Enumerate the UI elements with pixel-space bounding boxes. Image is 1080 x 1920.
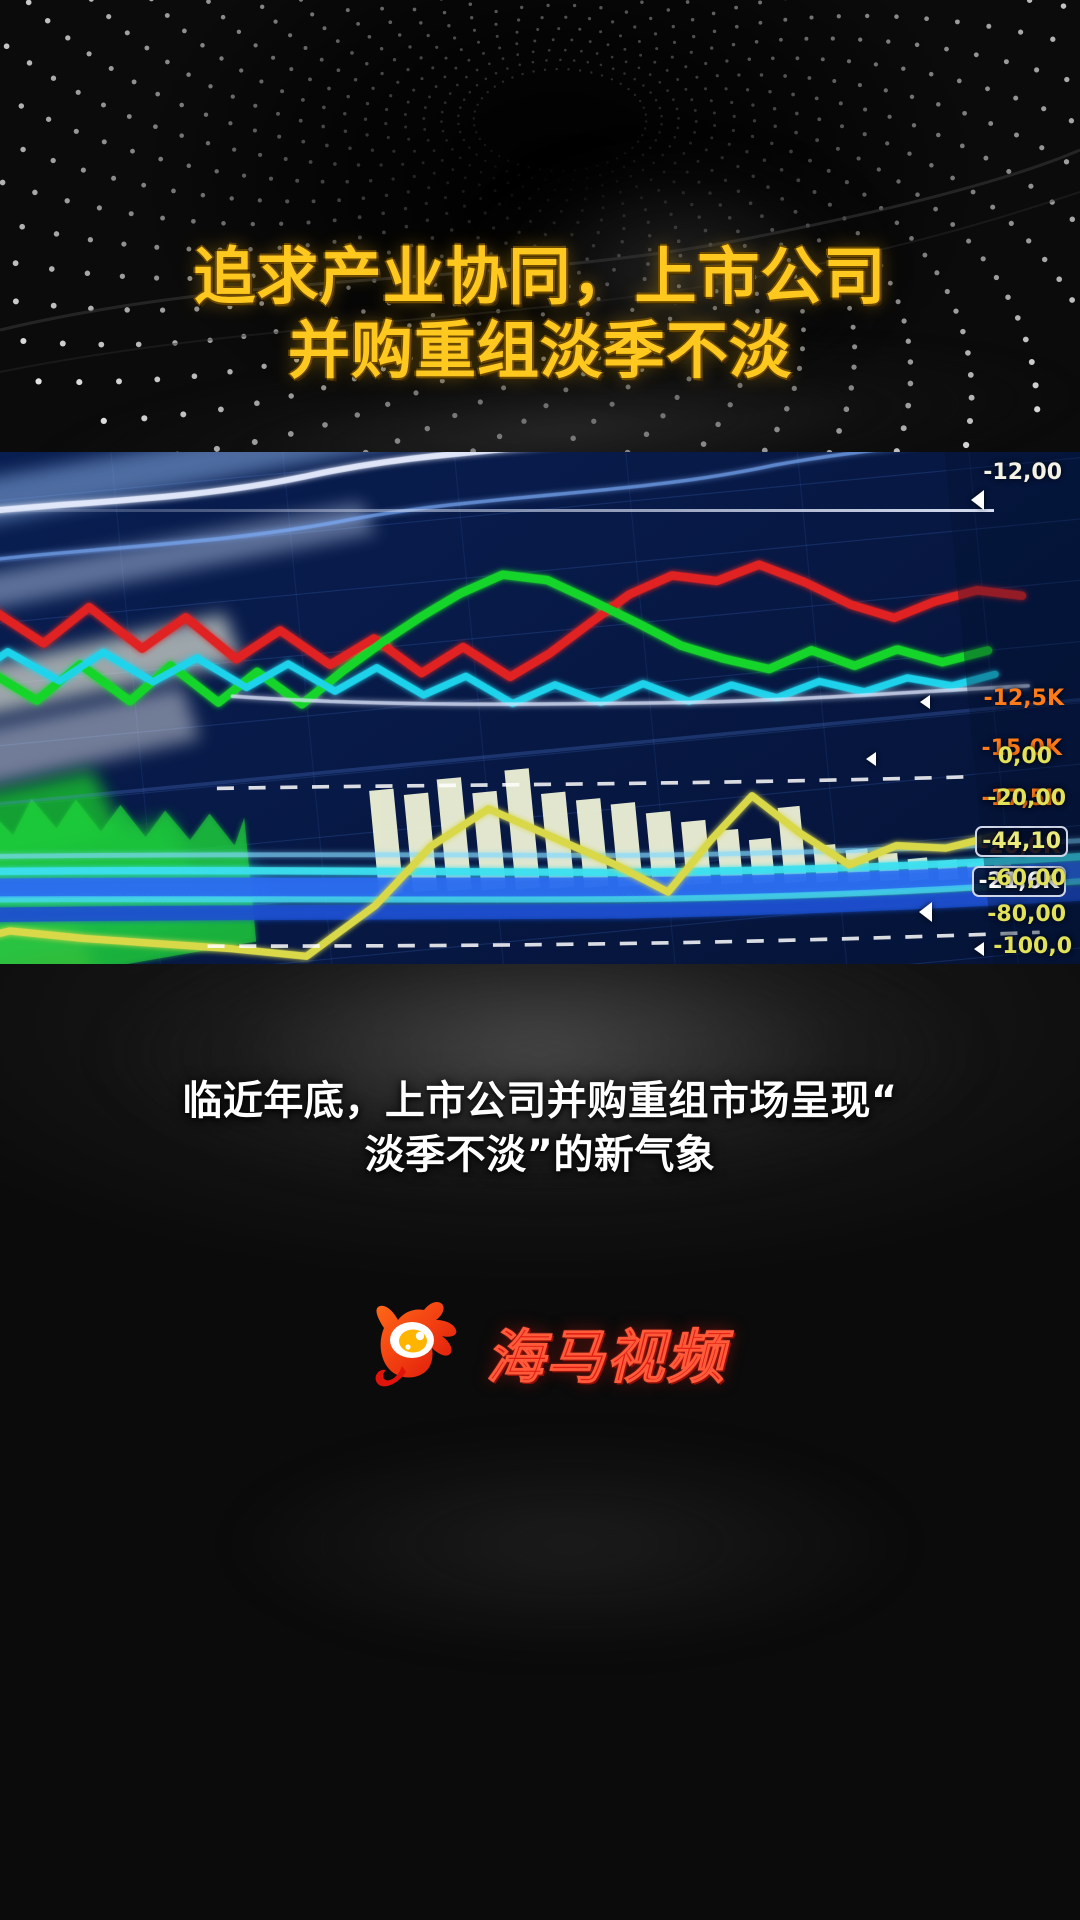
- poster-canvas: 追求产业协同，上市公司 并购重组淡季不淡: [0, 0, 1080, 1920]
- title-line-2: 并购重组淡季不淡: [0, 314, 1080, 388]
- axis-highlight-lower: -44,10: [975, 826, 1068, 857]
- brand-logo[interactable]: 海马视频: [0, 1294, 1080, 1410]
- seahorse-mascot-icon: [354, 1294, 470, 1410]
- panel-sheen-bottom: [120, 1384, 1020, 1704]
- brand-name: 海马视频: [486, 1310, 726, 1394]
- chart-svg: [0, 452, 1080, 964]
- axis-marker-upper-2: [919, 902, 932, 922]
- axis-label-lower-1: -20,00: [987, 786, 1066, 811]
- caption-line-2: 淡季不淡”的新气象: [0, 1128, 1080, 1182]
- axis-marker-upper-0: [971, 490, 984, 510]
- title-line-1: 追求产业协同，上市公司: [0, 240, 1080, 314]
- axis-label-lower-4: -100,0: [993, 934, 1072, 959]
- axis-marker-lower-1: [974, 942, 984, 956]
- page-title: 追求产业协同，上市公司 并购重组淡季不淡: [0, 240, 1080, 388]
- caption-panel: 临近年底，上市公司并购重组市场呈现“ 淡季不淡”的新气象: [0, 964, 1080, 1920]
- axis-marker-upper-1: [920, 695, 930, 709]
- axis-label-upper-1: -12,5K: [984, 686, 1064, 711]
- axis-label-lower-2: -60,00: [987, 866, 1066, 891]
- axis-label-lower-3: -80,00: [987, 902, 1066, 927]
- chart-plot-area: [0, 452, 1080, 964]
- caption-line-1: 临近年底，上市公司并购重组市场呈现“: [0, 1074, 1080, 1128]
- axis-label-upper-0: -12,00: [983, 460, 1062, 485]
- caption-text: 临近年底，上市公司并购重组市场呈现“ 淡季不淡”的新气象: [0, 1074, 1080, 1182]
- axis-marker-lower-0: [866, 752, 876, 766]
- stock-chart-photo: -12,00 -12,5K -15,0K -17,5K -20,0K -21,6…: [0, 452, 1080, 964]
- axis-label-lower-0: 0,00: [998, 744, 1052, 769]
- crosshair-line-upper: [0, 509, 994, 512]
